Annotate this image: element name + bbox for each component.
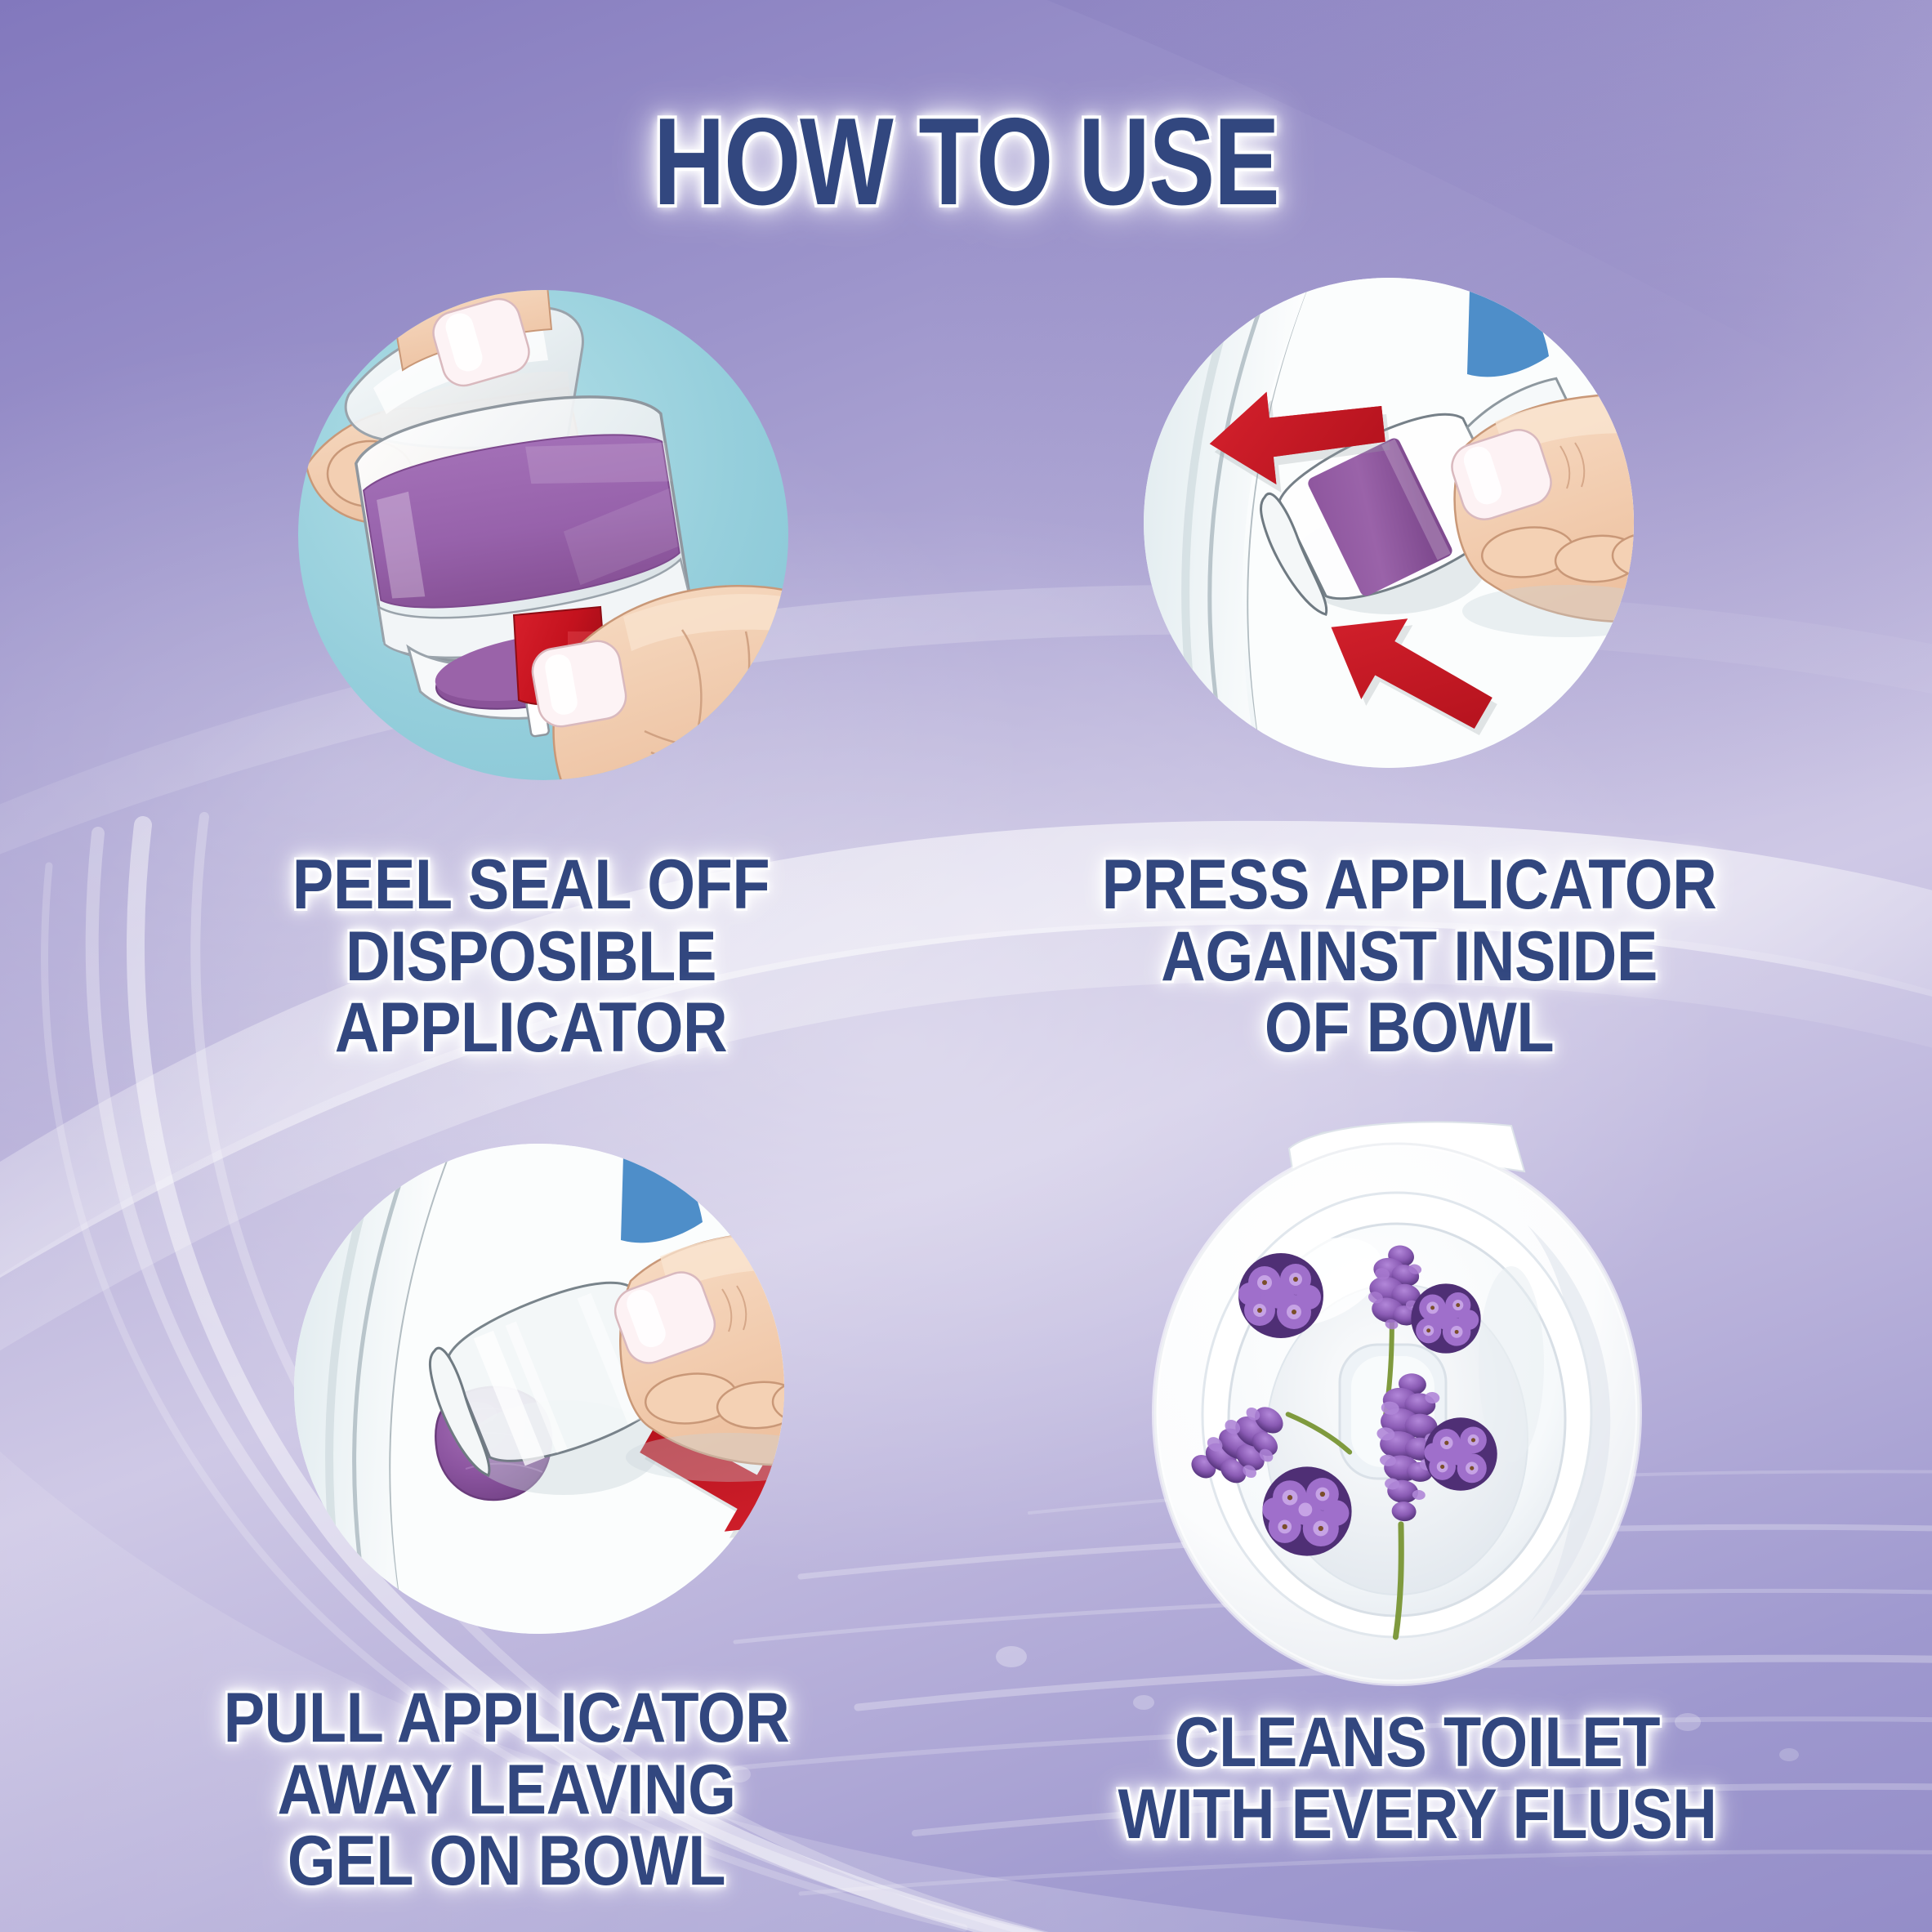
step-3-caption: PULL APPLICATOR AWAY LEAVING GEL ON BOWL xyxy=(140,1683,873,1898)
step-1-caption: PEEL SEAL OFF DISPOSIBLE APPLICATOR xyxy=(164,850,898,1064)
lavender-cluster-2 xyxy=(1411,1283,1480,1353)
step-1-caption-line-2: DISPOSIBLE xyxy=(164,921,898,993)
step-3-caption-line-3: GEL ON BOWL xyxy=(140,1826,873,1898)
toilet-with-lavender-artwork xyxy=(1070,1119,1724,1691)
step-1-caption-line-1: PEEL SEAL OFF xyxy=(164,850,898,921)
page-title: HOW TO USE xyxy=(194,100,1739,224)
step-2-caption: PRESS APPLICATOR AGAINST INSIDE OF BOWL xyxy=(1028,850,1791,1064)
step-2-illustration xyxy=(1144,278,1634,768)
step-2-circle-background xyxy=(1144,278,1634,768)
lavender-cluster-1 xyxy=(1238,1253,1323,1338)
step-2-caption-line-2: AGAINST INSIDE xyxy=(1028,921,1791,993)
step-2-caption-line-3: OF BOWL xyxy=(1028,993,1791,1064)
step-4-caption-line-1: CLEANS TOILET xyxy=(1055,1707,1781,1779)
press-applicator-artwork xyxy=(1144,278,1634,768)
infographic-canvas: HOW TO USE xyxy=(0,0,1932,1932)
step-3-caption-line-2: AWAY LEAVING xyxy=(140,1755,873,1827)
lavender-cluster-3 xyxy=(1424,1417,1497,1490)
step-1-illustration xyxy=(298,290,788,780)
arrow-right-icon xyxy=(755,1574,784,1634)
step-1-circle-background xyxy=(298,290,788,780)
lavender-cluster-4 xyxy=(1262,1466,1351,1555)
step-1-caption-line-3: APPLICATOR xyxy=(164,993,898,1064)
step-4-caption: CLEANS TOILET WITH EVERY FLUSH xyxy=(1055,1707,1781,1850)
applicator-peel-seal-artwork xyxy=(298,290,788,780)
step-4-illustration xyxy=(1070,1119,1724,1691)
step-3-illustration xyxy=(294,1144,784,1634)
step-3-circle-background xyxy=(294,1144,784,1634)
step-4-caption-line-2: WITH EVERY FLUSH xyxy=(1055,1779,1781,1851)
step-3-caption-line-1: PULL APPLICATOR xyxy=(140,1683,873,1755)
step-2-caption-line-1: PRESS APPLICATOR xyxy=(1028,850,1791,921)
pull-applicator-artwork xyxy=(294,1144,784,1634)
